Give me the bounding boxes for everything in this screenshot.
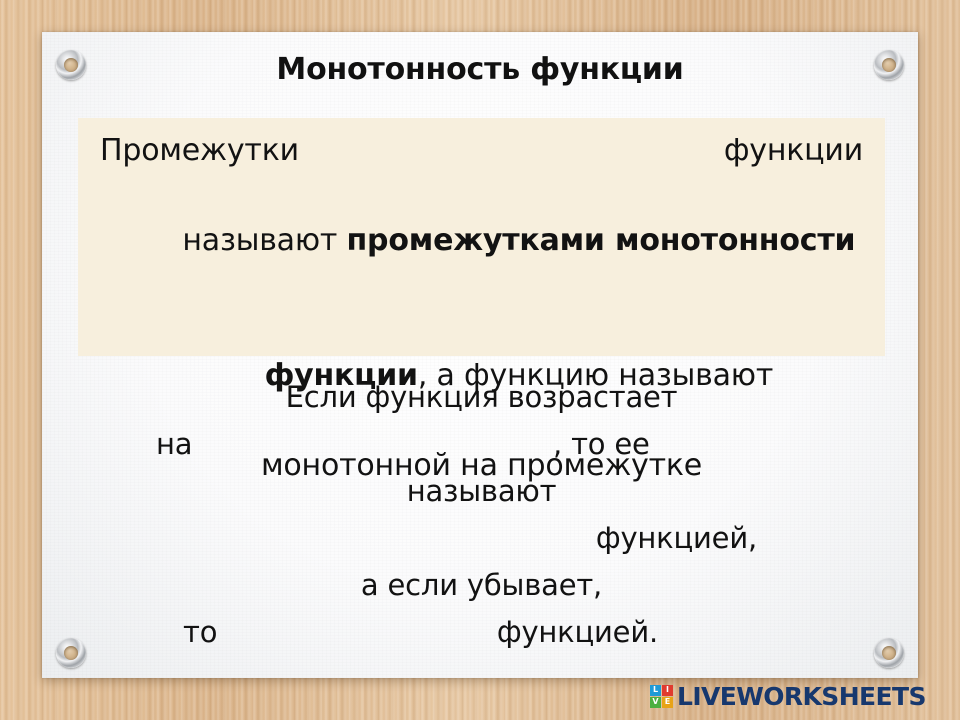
definition-line-2-emphasis: промежутками монотонности [347,223,856,258]
grommet-top-left-icon [56,50,86,80]
definition-panel: Промежутки функции называют промежутками… [78,118,885,356]
body-line-6: то функцией. [78,609,885,656]
body-text: Если функция возрастает на , то ее назыв… [78,374,885,656]
liveworksheets-wordmark: LIVEWORKSHEETS [677,684,926,709]
definition-line-2: называют промежутками монотонности [94,173,869,308]
grommet-top-right-icon [874,50,904,80]
logo-tile-e: E [662,697,673,708]
definition-line-1-part-a: Промежутки [100,128,299,173]
liveworksheets-mark-icon: L I V E [650,685,673,708]
body-line-1: Если функция возрастает [78,374,885,421]
body-line-2: на , то ее [78,421,885,468]
body-line-3: называют [78,468,885,515]
logo-tile-v: V [650,697,661,708]
liveworksheets-logo[interactable]: L I V E LIVEWORKSHEETS [650,681,926,711]
logo-tile-l: L [650,685,661,696]
slide-canvas: Монотонность функции Промежутки функции … [0,0,960,720]
definition-line-1: Промежутки функции [94,128,869,173]
page-title: Монотонность функции [42,52,918,88]
body-line-4: функцией, [78,515,885,562]
body-line-5: а если убывает, [78,562,885,609]
logo-tile-i: I [662,685,673,696]
grommet-bottom-left-icon [56,638,86,668]
definition-line-1-part-b: функции [724,128,863,173]
definition-line-2-part-a: называют [182,223,346,258]
grommet-bottom-right-icon [874,638,904,668]
